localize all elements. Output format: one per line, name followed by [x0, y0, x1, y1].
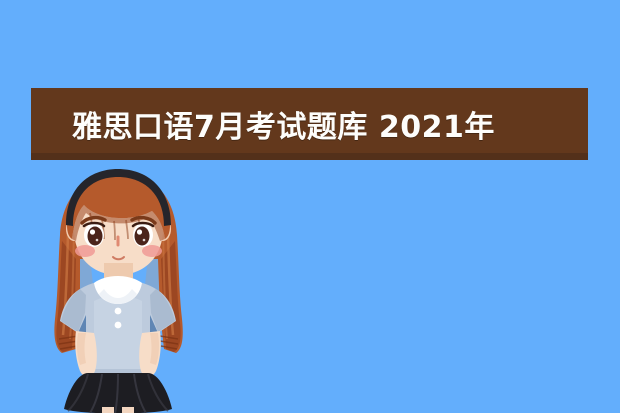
page-title: 雅思口语7月考试题库 2021年: [72, 102, 495, 146]
title-banner: 雅思口语7月考试题库 2021年: [31, 88, 588, 160]
image-canvas: 雅思口语7月考试题库 2021年: [0, 0, 620, 413]
skirt: [64, 373, 172, 413]
schoolgirl-illustration: [18, 163, 214, 413]
banner-bottom-shadow: [31, 153, 588, 160]
